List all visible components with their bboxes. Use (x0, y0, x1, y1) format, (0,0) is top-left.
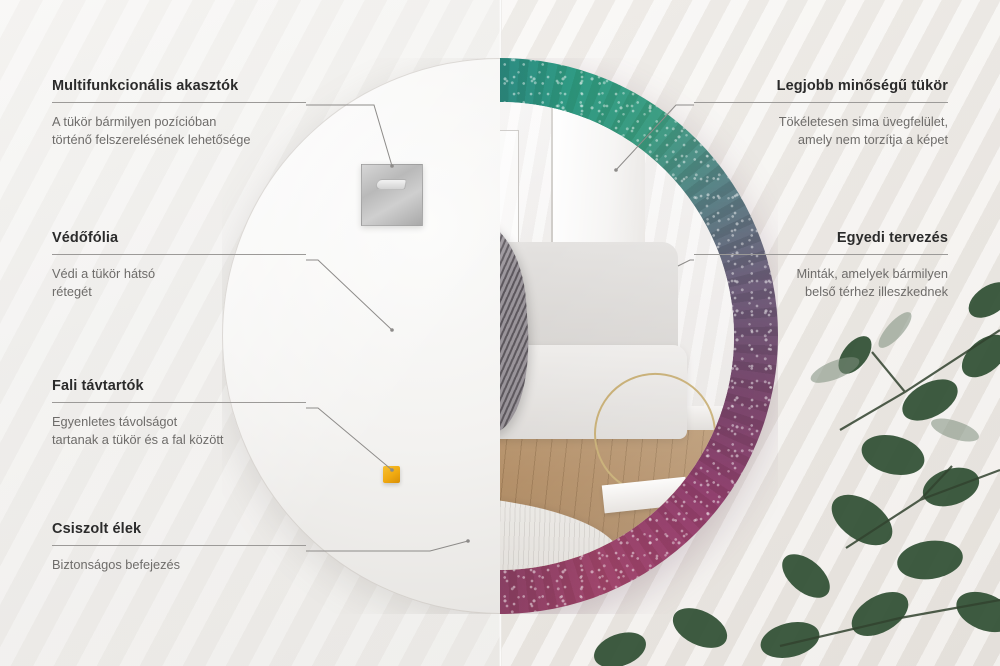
callout-best-quality-mirror: Legjobb minőségű tükör Tökéletesen sima … (694, 78, 948, 149)
wall-spacer-block (383, 466, 400, 483)
callout-best-quality-mirror-description: Tökéletesen sima üvegfelület, amely nem … (694, 113, 948, 149)
callout-polished-edges-title: Csiszolt élek (52, 521, 306, 537)
callout-protective-film-rule (52, 254, 306, 255)
callout-unique-design: Egyedi tervezés Minták, amelyek bármilye… (694, 230, 948, 301)
callout-hangers-rule (52, 102, 306, 103)
callout-hangers-description: A tükör bármilyen pozícióban történő fel… (52, 113, 306, 149)
callout-protective-film: Védőfólia Védi a tükör hátsó rétegét (52, 230, 306, 301)
callout-protective-film-description: Védi a tükör hátsó rétegét (52, 265, 306, 301)
callout-best-quality-mirror-title: Legjobb minőségű tükör (694, 78, 948, 94)
callout-wall-spacers-rule (52, 402, 306, 403)
callout-unique-design-rule (694, 254, 948, 255)
callout-best-quality-mirror-rule (694, 102, 948, 103)
callout-hangers: Multifunkcionális akasztók A tükör bármi… (52, 78, 306, 149)
callout-protective-film-title: Védőfólia (52, 230, 306, 246)
callout-polished-edges: Csiszolt élek Biztonságos befejezés (52, 521, 306, 574)
callout-wall-spacers-title: Fali távtartók (52, 378, 306, 394)
callout-unique-design-description: Minták, amelyek bármilyen belső térhez i… (694, 265, 948, 301)
callout-wall-spacers: Fali távtartók Egyenletes távolságot tar… (52, 378, 306, 449)
callout-unique-design-title: Egyedi tervezés (694, 230, 948, 246)
keyhole-slot-icon (375, 179, 407, 190)
callout-hangers-title: Multifunkcionális akasztók (52, 78, 306, 94)
infographic-canvas: Multifunkcionális akasztók A tükör bármi… (0, 0, 1000, 666)
callout-wall-spacers-description: Egyenletes távolságot tartanak a tükör é… (52, 413, 306, 449)
callout-polished-edges-description: Biztonságos befejezés (52, 556, 306, 574)
callout-polished-edges-rule (52, 545, 306, 546)
hanger-plate (361, 164, 423, 226)
